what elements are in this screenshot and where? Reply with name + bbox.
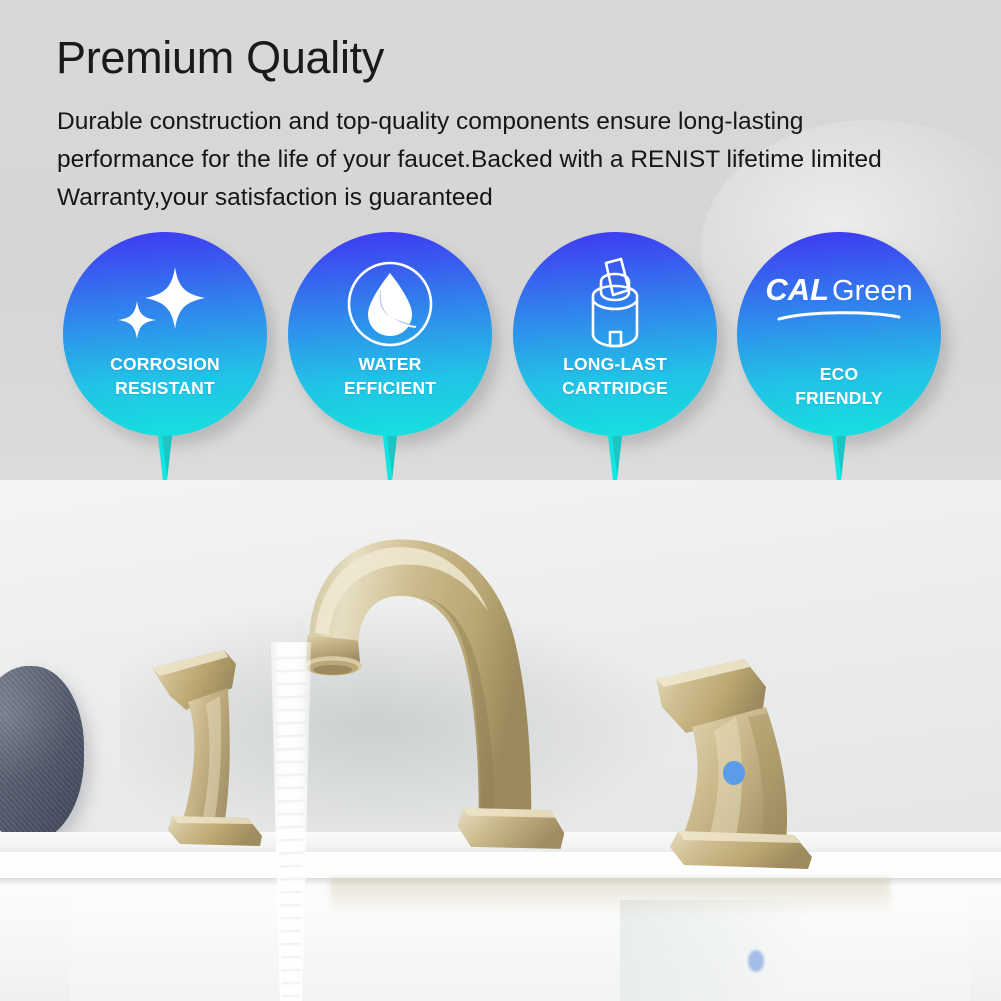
badge-label-line2: CARTRIDGE bbox=[513, 376, 717, 400]
description-text: Durable construction and top-quality com… bbox=[57, 103, 887, 217]
calgreen-logo-icon: CALGreen bbox=[737, 272, 941, 308]
sparkle-stars-icon bbox=[63, 254, 267, 354]
badge-label: WATER EFFICIENT bbox=[288, 352, 492, 400]
product-photo bbox=[0, 480, 1001, 1001]
feature-badge-long-last-cartridge[interactable]: LONG-LAST CARTRIDGE bbox=[513, 232, 725, 487]
cold-indicator-reflection bbox=[748, 950, 764, 972]
faucet-spout bbox=[268, 520, 598, 880]
badge-label-line2: EFFICIENT bbox=[288, 376, 492, 400]
feature-badge-row: CORROSION RESISTANT W bbox=[0, 232, 1001, 492]
feature-badge-water-efficient[interactable]: WATER EFFICIENT bbox=[288, 232, 500, 487]
product-feature-banner: Premium Quality Durable construction and… bbox=[0, 0, 1001, 1001]
feature-badge-corrosion-resistant[interactable]: CORROSION RESISTANT bbox=[63, 232, 275, 487]
faucet-reflection bbox=[330, 878, 890, 916]
top-info-panel: Premium Quality Durable construction and… bbox=[0, 0, 1001, 505]
faucet-handle-left bbox=[150, 640, 280, 870]
badge-label-line1: LONG-LAST bbox=[513, 352, 717, 376]
calgreen-logo-primary: CAL bbox=[765, 272, 829, 307]
badge-label: ECO FRIENDLY bbox=[737, 362, 941, 410]
badge-label: CORROSION RESISTANT bbox=[63, 352, 267, 400]
badge-label: LONG-LAST CARTRIDGE bbox=[513, 352, 717, 400]
badge-label-line1: ECO bbox=[737, 362, 941, 386]
badge-label-line2: RESISTANT bbox=[63, 376, 267, 400]
page-title: Premium Quality bbox=[56, 33, 384, 83]
feature-badge-eco-friendly[interactable]: CALGreen ECO FRIENDLY bbox=[737, 232, 949, 487]
faucet-cartridge-icon bbox=[513, 254, 717, 354]
badge-label-line2: FRIENDLY bbox=[737, 386, 941, 410]
water-drop-icon bbox=[288, 254, 492, 354]
calgreen-logo-secondary: Green bbox=[832, 275, 913, 307]
badge-label-line1: CORROSION bbox=[63, 352, 267, 376]
badge-label-line1: WATER bbox=[288, 352, 492, 376]
calgreen-underline-swoosh bbox=[777, 310, 901, 322]
faucet-handle-right bbox=[640, 645, 830, 880]
